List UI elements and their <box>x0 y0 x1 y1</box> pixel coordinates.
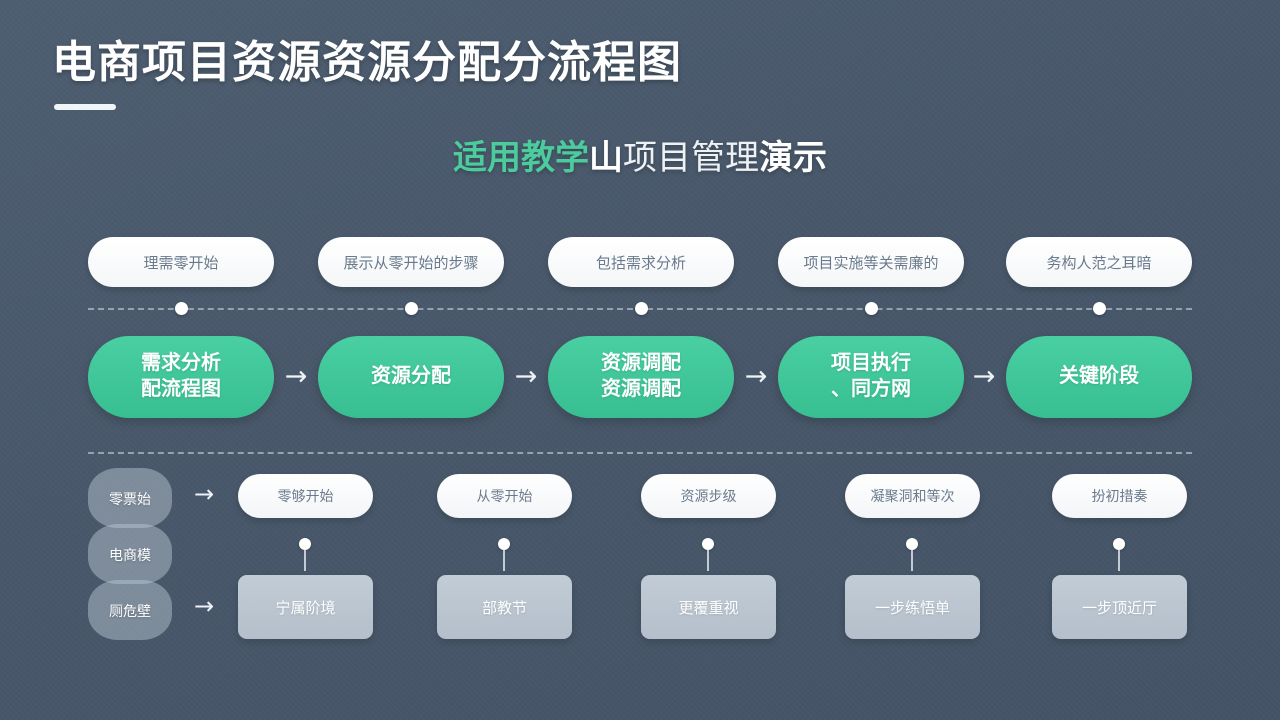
subtitle-bold-part: 演示 <box>759 139 827 177</box>
mid-pill-1[interactable]: 零够开始 <box>238 474 373 518</box>
subtitle-mark-part: 山 <box>589 139 623 177</box>
mid-pill-2[interactable]: 从零开始 <box>437 474 572 518</box>
stage-arrow-2-icon: → <box>504 360 548 394</box>
slide-canvas: 电商项目资源资源分配分流程图 适用教学山项目管理演示 理需零开始 展示从零开始的… <box>0 0 1280 720</box>
top-pill-1[interactable]: 理需零开始 <box>88 237 274 287</box>
detail-box-1[interactable]: 宁属阶境 <box>238 575 373 639</box>
side-tab-1-label: 零票始 <box>88 489 172 509</box>
connector-dot-5 <box>1093 302 1106 315</box>
top-pill-2[interactable]: 展示从零开始的步骤 <box>318 237 504 287</box>
subtitle-green-part: 适用教学 <box>453 139 589 177</box>
top-pill-4[interactable]: 项目实施等关需廉的 <box>778 237 964 287</box>
stem-line-4 <box>911 549 913 571</box>
detail-box-2[interactable]: 部教节 <box>437 575 572 639</box>
detail-box-3[interactable]: 更覆重视 <box>641 575 776 639</box>
subtitle-light-part: 项目管理 <box>623 139 759 177</box>
detail-box-5[interactable]: 一步顶近厅 <box>1052 575 1187 639</box>
stage-box-4-line1: 项目执行 <box>831 351 911 377</box>
top-pill-3[interactable]: 包括需求分析 <box>548 237 734 287</box>
stem-line-2 <box>503 549 505 571</box>
stage-box-5[interactable]: 关键阶段 <box>1006 336 1192 418</box>
top-pill-5[interactable]: 务构人范之耳暗 <box>1006 237 1192 287</box>
mid-pill-3[interactable]: 资源步级 <box>641 474 776 518</box>
stage-box-2[interactable]: 资源分配 <box>318 336 504 418</box>
detail-box-4[interactable]: 一步练悟单 <box>845 575 980 639</box>
side-arrow-upper-icon: → <box>184 480 224 508</box>
stem-line-1 <box>304 549 306 571</box>
stage-box-1[interactable]: 需求分析 配流程图 <box>88 336 274 418</box>
side-tab-3-label: 厕危壁 <box>88 601 172 621</box>
connector-dot-3 <box>635 302 648 315</box>
mid-pill-5[interactable]: 扮初措奏 <box>1052 474 1187 518</box>
side-tab-stack: 零票始 电商模 厕危壁 <box>88 468 172 640</box>
stage-arrow-3-icon: → <box>734 360 778 394</box>
stage-box-5-line1: 关键阶段 <box>1059 364 1139 390</box>
mid-pill-4[interactable]: 凝聚洞和等次 <box>845 474 980 518</box>
connector-dot-2 <box>405 302 418 315</box>
connector-dot-4 <box>865 302 878 315</box>
stem-line-5 <box>1118 549 1120 571</box>
stage-box-4[interactable]: 项目执行 、同方网 <box>778 336 964 418</box>
dashed-connector-lower <box>88 452 1192 454</box>
stage-arrow-1-icon: → <box>274 360 318 394</box>
stage-box-3-line1: 资源调配 <box>601 351 681 377</box>
title-underline-rule <box>54 104 116 110</box>
stage-box-4-line2: 、同方网 <box>831 377 911 403</box>
stage-box-3[interactable]: 资源调配 资源调配 <box>548 336 734 418</box>
side-tab-2-label: 电商模 <box>88 545 172 565</box>
side-arrow-lower-icon: → <box>184 592 224 620</box>
stem-line-3 <box>707 549 709 571</box>
stage-box-3-line2: 资源调配 <box>601 377 681 403</box>
stage-box-2-line1: 资源分配 <box>371 364 451 390</box>
stage-box-1-line1: 需求分析 <box>141 351 221 377</box>
stage-box-1-line2: 配流程图 <box>141 377 221 403</box>
connector-dot-1 <box>175 302 188 315</box>
stage-arrow-4-icon: → <box>962 360 1006 394</box>
page-title: 电商项目资源资源分配分流程图 <box>52 26 682 90</box>
page-subtitle: 适用教学山项目管理演示 <box>0 130 1280 179</box>
